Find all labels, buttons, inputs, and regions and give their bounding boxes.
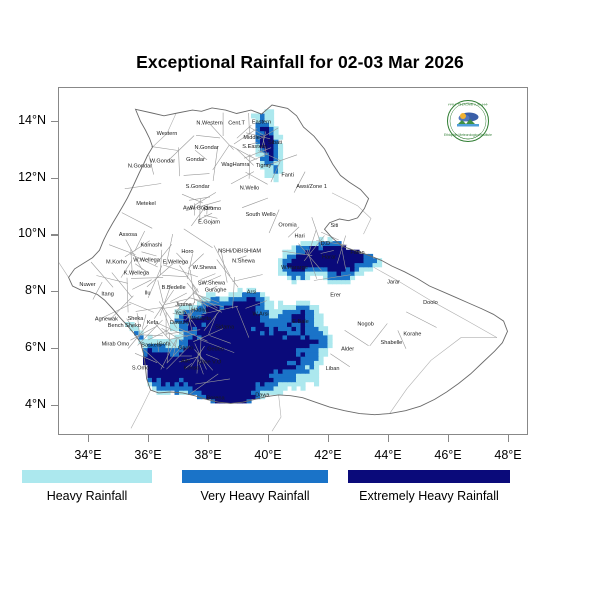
rainfall-cell bbox=[346, 262, 351, 267]
zone-border bbox=[406, 312, 436, 328]
rainfall-cell bbox=[152, 373, 157, 378]
rainfall-cell bbox=[247, 314, 252, 319]
rainfall-cell bbox=[197, 326, 202, 331]
zone-label: Konso bbox=[184, 365, 200, 371]
rainfall-cell bbox=[278, 331, 283, 336]
rainfall-cell bbox=[305, 271, 310, 276]
zone-border bbox=[96, 276, 127, 284]
rainfall-cell bbox=[215, 382, 220, 387]
rainfall-cell bbox=[238, 365, 243, 370]
rainfall-cell bbox=[301, 326, 306, 331]
rainfall-cell bbox=[301, 275, 306, 280]
rainfall-cell bbox=[292, 314, 297, 319]
rainfall-cell bbox=[283, 386, 288, 391]
rainfall-cell bbox=[269, 314, 274, 319]
rainfall-cell bbox=[256, 373, 261, 378]
rainfall-cell bbox=[152, 369, 157, 374]
rainfall-cell bbox=[278, 360, 283, 365]
rainfall-cell bbox=[301, 365, 306, 370]
rainfall-cell bbox=[301, 382, 306, 387]
zone-label: Mirab Omo bbox=[102, 342, 130, 348]
rainfall-cell bbox=[229, 339, 234, 344]
rainfall-cell bbox=[283, 348, 288, 353]
rainfall-cell bbox=[152, 386, 157, 391]
rainfall-cell bbox=[368, 262, 373, 267]
rainfall-cell bbox=[328, 339, 333, 344]
rainfall-cell bbox=[220, 369, 225, 374]
rainfall-cell bbox=[269, 301, 274, 306]
zone-label: Western bbox=[157, 131, 178, 137]
rainfall-cell bbox=[278, 271, 283, 276]
rainfall-cell bbox=[283, 365, 288, 370]
rainfall-cell bbox=[256, 386, 261, 391]
rainfall-cell bbox=[314, 343, 319, 348]
rainfall-cell bbox=[341, 250, 346, 255]
zone-border bbox=[131, 278, 163, 279]
rainfall-cell bbox=[269, 386, 274, 391]
rainfall-cell bbox=[359, 271, 364, 276]
rainfall-cell bbox=[323, 271, 328, 276]
rainfall-cell bbox=[197, 322, 202, 327]
rainfall-cell bbox=[247, 360, 252, 365]
rainfall-cell bbox=[260, 343, 265, 348]
rainfall-cell bbox=[287, 356, 292, 361]
rainfall-cell bbox=[229, 360, 234, 365]
rainfall-cell bbox=[161, 369, 166, 374]
rainfall-cell bbox=[283, 322, 288, 327]
zone-label: Tigray bbox=[256, 163, 272, 169]
y-axis-tick-label: 14°N bbox=[0, 113, 46, 127]
rainfall-cell bbox=[269, 348, 274, 353]
map-legend: Heavy RainfallVery Heavy RainfallExtreme… bbox=[0, 470, 600, 510]
rainfall-cell bbox=[242, 390, 247, 395]
rainfall-cell bbox=[238, 360, 243, 365]
rainfall-cell bbox=[229, 356, 234, 361]
rainfall-cell bbox=[233, 343, 238, 348]
rainfall-cell bbox=[310, 343, 315, 348]
rainfall-cell bbox=[305, 348, 310, 353]
rainfall-cell bbox=[305, 369, 310, 374]
zone-border bbox=[170, 293, 187, 302]
rainfall-cell bbox=[314, 305, 319, 310]
rainfall-cell bbox=[179, 386, 184, 391]
logo-top-text: የቶጵያ ሜቴኦሮሎጅ ኢንስቲቱት bbox=[448, 103, 489, 107]
rainfall-cell bbox=[247, 390, 252, 395]
rainfall-cell bbox=[301, 314, 306, 319]
y-axis-tick-label: 10°N bbox=[0, 226, 46, 240]
rainfall-cell bbox=[233, 301, 238, 306]
rainfall-cell bbox=[301, 360, 306, 365]
rainfall-cell bbox=[242, 339, 247, 344]
rainfall-cell bbox=[319, 262, 324, 267]
zone-label: Liban bbox=[326, 366, 340, 372]
rainfall-cell bbox=[166, 377, 171, 382]
rainfall-cell bbox=[305, 343, 310, 348]
legend-item: Extremely Heavy Rainfall bbox=[348, 470, 510, 503]
rainfall-cell bbox=[265, 169, 270, 174]
rainfall-cell bbox=[278, 258, 283, 263]
rainfall-cell bbox=[283, 373, 288, 378]
rainfall-cell bbox=[265, 297, 270, 302]
rainfall-cell bbox=[310, 348, 315, 353]
rainfall-cell bbox=[314, 365, 319, 370]
rainfall-cell bbox=[161, 373, 166, 378]
rainfall-cell bbox=[301, 386, 306, 391]
rainfall-cell bbox=[157, 373, 162, 378]
rainfall-cell bbox=[319, 314, 324, 319]
rainfall-cell bbox=[305, 377, 310, 382]
rainfall-cell bbox=[301, 241, 306, 246]
rainfall-cell bbox=[206, 386, 211, 391]
rainfall-cell bbox=[287, 331, 292, 336]
rainfall-cell bbox=[184, 386, 189, 391]
zone-border bbox=[129, 302, 154, 312]
rainfall-cell bbox=[197, 331, 202, 336]
rainfall-cell bbox=[319, 352, 324, 357]
rainfall-cell bbox=[337, 271, 342, 276]
rainfall-cell bbox=[269, 309, 274, 314]
rainfall-cell bbox=[310, 271, 315, 276]
rainfall-cell bbox=[247, 386, 252, 391]
y-axis-tick bbox=[51, 405, 58, 406]
zone-border bbox=[232, 275, 262, 282]
rainfall-cell bbox=[233, 339, 238, 344]
rainfall-cell bbox=[301, 305, 306, 310]
rainfall-cell bbox=[242, 348, 247, 353]
rainfall-cell bbox=[301, 377, 306, 382]
rainfall-cell bbox=[247, 318, 252, 323]
x-axis-tick-label: 42°E bbox=[298, 448, 358, 462]
rainfall-cell bbox=[292, 258, 297, 263]
rainfall-cell bbox=[161, 352, 166, 357]
rainfall-cell bbox=[265, 126, 270, 131]
rainfall-cell bbox=[305, 356, 310, 361]
rainfall-cell bbox=[215, 390, 220, 395]
rainfall-cell bbox=[242, 382, 247, 387]
zone-label: E.Gojam bbox=[198, 220, 220, 226]
rainfall-cell bbox=[314, 348, 319, 353]
rainfall-cell bbox=[251, 318, 256, 323]
rainfall-cell bbox=[242, 297, 247, 302]
zone-label: W.Wellega bbox=[133, 258, 161, 264]
rainfall-cell bbox=[233, 369, 238, 374]
rainfall-cell bbox=[233, 331, 238, 336]
rainfall-cell bbox=[305, 305, 310, 310]
rainfall-cell bbox=[314, 314, 319, 319]
zone-label: W.Gondar bbox=[150, 158, 175, 164]
rainfall-cell bbox=[193, 386, 198, 391]
rainfall-cell bbox=[314, 356, 319, 361]
rainfall-cell bbox=[166, 373, 171, 378]
rainfall-cell bbox=[301, 245, 306, 250]
legend-label: Extremely Heavy Rainfall bbox=[348, 489, 510, 503]
rainfall-cell bbox=[341, 279, 346, 284]
rainfall-cell bbox=[274, 331, 279, 336]
rainfall-cell bbox=[256, 297, 261, 302]
rainfall-cell bbox=[188, 386, 193, 391]
rainfall-cell bbox=[364, 267, 369, 272]
rainfall-cell bbox=[310, 377, 315, 382]
rainfall-cell bbox=[197, 377, 202, 382]
legend-label: Heavy Rainfall bbox=[22, 489, 152, 503]
rainfall-cell bbox=[152, 382, 157, 387]
rainfall-cell bbox=[188, 326, 193, 331]
neighbour-border bbox=[272, 395, 281, 431]
rainfall-cell bbox=[197, 390, 202, 395]
rainfall-cell bbox=[175, 382, 180, 387]
rainfall-cell bbox=[184, 373, 189, 378]
rainfall-cell bbox=[238, 390, 243, 395]
rainfall-cell bbox=[229, 382, 234, 387]
rainfall-cell bbox=[346, 279, 351, 284]
rainfall-cell bbox=[278, 382, 283, 387]
zone-label: Assosa bbox=[119, 232, 138, 238]
rainfall-cell bbox=[215, 339, 220, 344]
rainfall-cell bbox=[301, 258, 306, 263]
rainfall-cell bbox=[152, 356, 157, 361]
rainfall-cell bbox=[260, 356, 265, 361]
rainfall-cell bbox=[242, 335, 247, 340]
rainfall-cell bbox=[233, 386, 238, 391]
legend-swatch bbox=[348, 470, 510, 483]
rainfall-cell bbox=[265, 386, 270, 391]
rainfall-cell bbox=[215, 352, 220, 357]
rainfall-cell bbox=[265, 173, 270, 178]
rainfall-cell bbox=[292, 382, 297, 387]
zone-label: Fanti bbox=[281, 173, 293, 179]
rainfall-cell bbox=[323, 339, 328, 344]
zone-label: N.Wello bbox=[240, 186, 259, 192]
rainfall-cell bbox=[224, 382, 229, 387]
rainfall-cell bbox=[310, 309, 315, 314]
rainfall-cell bbox=[256, 352, 261, 357]
rainfall-cell bbox=[274, 131, 279, 136]
rainfall-cell bbox=[292, 343, 297, 348]
rainfall-cell bbox=[238, 352, 243, 357]
zone-label: Wolayita bbox=[190, 316, 212, 322]
rainfall-cell bbox=[278, 135, 283, 140]
zone-label: Dawuro bbox=[170, 320, 189, 326]
rainfall-cell bbox=[247, 377, 252, 382]
rainfall-cell bbox=[152, 365, 157, 370]
zone-label: Horo bbox=[181, 249, 193, 255]
zone-border bbox=[246, 172, 268, 184]
rainfall-cell bbox=[269, 390, 274, 395]
rainfall-cell bbox=[310, 322, 315, 327]
rainfall-cell bbox=[283, 309, 288, 314]
zone-label: Gedeo bbox=[207, 346, 224, 352]
rainfall-cell bbox=[305, 373, 310, 378]
zone-border bbox=[231, 172, 254, 184]
logo-bottom-text: Ethiopian Meteorological Institute bbox=[444, 133, 492, 137]
zone-label: Gondar bbox=[186, 157, 205, 163]
rainfall-cell bbox=[377, 262, 382, 267]
zone-label: N.Gondar bbox=[128, 163, 152, 169]
rainfall-cell bbox=[310, 352, 315, 357]
rainfall-cell bbox=[274, 326, 279, 331]
rainfall-cell bbox=[233, 318, 238, 323]
rainfall-cell bbox=[292, 339, 297, 344]
rainfall-cell bbox=[229, 343, 234, 348]
rainfall-cell bbox=[256, 369, 261, 374]
zone-label: Alle bbox=[181, 359, 190, 365]
rainfall-cell bbox=[292, 271, 297, 276]
rainfall-cell bbox=[305, 335, 310, 340]
rainfall-cell bbox=[296, 360, 301, 365]
rainfall-cell bbox=[152, 377, 157, 382]
rainfall-cell bbox=[229, 369, 234, 374]
zone-label: Gofa bbox=[159, 342, 172, 348]
rainfall-cell bbox=[359, 262, 364, 267]
rainfall-cell bbox=[296, 382, 301, 387]
rainfall-cell bbox=[233, 373, 238, 378]
rainfall-cell bbox=[310, 365, 315, 370]
rainfall-cell bbox=[314, 335, 319, 340]
rainfall-cell bbox=[238, 377, 243, 382]
zone-border bbox=[330, 354, 349, 367]
rainfall-cell bbox=[310, 331, 315, 336]
rainfall-cell bbox=[278, 301, 283, 306]
rainfall-cell bbox=[278, 348, 283, 353]
zone-label: South Wello bbox=[246, 212, 276, 218]
rainfall-cell bbox=[269, 373, 274, 378]
rainfall-cell bbox=[296, 343, 301, 348]
zone-label: E.Wellega bbox=[163, 259, 189, 265]
rainfall-cell bbox=[170, 377, 175, 382]
rainfall-cell bbox=[355, 267, 360, 272]
rainfall-cell bbox=[247, 356, 252, 361]
rainfall-cell bbox=[323, 267, 328, 272]
y-axis-tick bbox=[51, 291, 58, 292]
rainfall-cell bbox=[211, 386, 216, 391]
zone-label: Agnewak bbox=[95, 317, 118, 323]
rainfall-map-page: Exceptional Rainfall for 02-03 Mar 2026 … bbox=[0, 0, 600, 600]
x-axis-tick bbox=[148, 435, 149, 442]
rainfall-cell bbox=[278, 335, 283, 340]
x-axis-tick bbox=[508, 435, 509, 442]
zone-label: Itang bbox=[101, 292, 113, 298]
rainfall-cell bbox=[296, 258, 301, 263]
rainfall-cell bbox=[305, 245, 310, 250]
rainfall-cell bbox=[310, 360, 315, 365]
rainfall-cell bbox=[269, 331, 274, 336]
x-axis-tick-label: 44°E bbox=[358, 448, 418, 462]
rainfall-cell bbox=[323, 326, 328, 331]
rainfall-cell bbox=[224, 394, 229, 399]
zone-label: B.Bedelle bbox=[162, 285, 186, 291]
rainfall-cell bbox=[323, 352, 328, 357]
rainfall-cell bbox=[292, 348, 297, 353]
rainfall-cell bbox=[287, 348, 292, 353]
zone-label: Korahe bbox=[403, 331, 421, 337]
rainfall-cell bbox=[319, 360, 324, 365]
rainfall-cell bbox=[287, 335, 292, 340]
rainfall-cell bbox=[224, 331, 229, 336]
rainfall-cell bbox=[229, 309, 234, 314]
rainfall-cell bbox=[148, 373, 153, 378]
zone-label: Ilu bbox=[145, 291, 151, 297]
rainfall-cell bbox=[274, 377, 279, 382]
rainfall-cell bbox=[175, 386, 180, 391]
rainfall-cell bbox=[332, 279, 337, 284]
rainfall-cell bbox=[229, 365, 234, 370]
rainfall-cell bbox=[224, 301, 229, 306]
rainfall-cell bbox=[179, 377, 184, 382]
rainfall-cell bbox=[292, 352, 297, 357]
rainfall-cell bbox=[166, 382, 171, 387]
rainfall-cell bbox=[301, 352, 306, 357]
rainfall-cell bbox=[337, 245, 342, 250]
rainfall-cell bbox=[310, 314, 315, 319]
rainfall-cell bbox=[202, 373, 207, 378]
rainfall-cell bbox=[152, 352, 157, 357]
rainfall-cell bbox=[292, 377, 297, 382]
rainfall-cell bbox=[233, 297, 238, 302]
rainfall-cell bbox=[224, 369, 229, 374]
zone-label: N.Gondar bbox=[194, 145, 218, 151]
rainfall-cell bbox=[166, 365, 171, 370]
rainfall-cell bbox=[242, 309, 247, 314]
rainfall-cell bbox=[332, 267, 337, 272]
zone-label: Yem bbox=[175, 310, 186, 316]
rainfall-cell bbox=[314, 326, 319, 331]
rainfall-cell bbox=[296, 356, 301, 361]
rainfall-cell bbox=[251, 339, 256, 344]
zone-label: Jimma bbox=[175, 302, 192, 308]
rainfall-cell bbox=[206, 373, 211, 378]
zone-label: Sheka bbox=[128, 316, 145, 322]
rainfall-cell bbox=[278, 318, 283, 323]
rainfall-cell bbox=[323, 348, 328, 353]
rainfall-cell bbox=[229, 394, 234, 399]
rainfall-cell bbox=[251, 382, 256, 387]
rainfall-cell bbox=[274, 386, 279, 391]
rainfall-cell bbox=[283, 356, 288, 361]
zone-label: S.Gondar bbox=[186, 184, 210, 190]
rainfall-cell bbox=[251, 335, 256, 340]
rainfall-cell bbox=[188, 339, 193, 344]
rainfall-cell bbox=[292, 309, 297, 314]
rainfall-cell bbox=[193, 373, 198, 378]
rainfall-cell bbox=[242, 301, 247, 306]
rainfall-cell bbox=[314, 352, 319, 357]
rainfall-cell bbox=[323, 262, 328, 267]
rainfall-cell bbox=[305, 331, 310, 336]
rainfall-cell bbox=[233, 335, 238, 340]
rainfall-cell bbox=[296, 271, 301, 276]
rainfall-cell bbox=[287, 309, 292, 314]
rainfall-cell bbox=[224, 386, 229, 391]
rainfall-cell bbox=[296, 339, 301, 344]
rainfall-cell bbox=[319, 356, 324, 361]
zone-label: Cent.T bbox=[228, 120, 245, 126]
rainfall-cell bbox=[283, 360, 288, 365]
zone-label: Nuwer bbox=[79, 282, 95, 288]
rainfall-cell bbox=[157, 356, 162, 361]
rainfall-cell bbox=[301, 369, 306, 374]
rainfall-cell bbox=[283, 250, 288, 255]
rainfall-cell bbox=[157, 377, 162, 382]
rainfall-cell bbox=[274, 152, 279, 157]
rainfall-cell bbox=[238, 305, 243, 310]
zone-border bbox=[132, 280, 151, 290]
rainfall-cell bbox=[292, 279, 297, 284]
rainfall-cell bbox=[274, 343, 279, 348]
rainfall-cell bbox=[211, 369, 216, 374]
zone-label: K.Wellega bbox=[124, 271, 150, 277]
rainfall-cell bbox=[319, 335, 324, 340]
x-axis-tick bbox=[268, 435, 269, 442]
